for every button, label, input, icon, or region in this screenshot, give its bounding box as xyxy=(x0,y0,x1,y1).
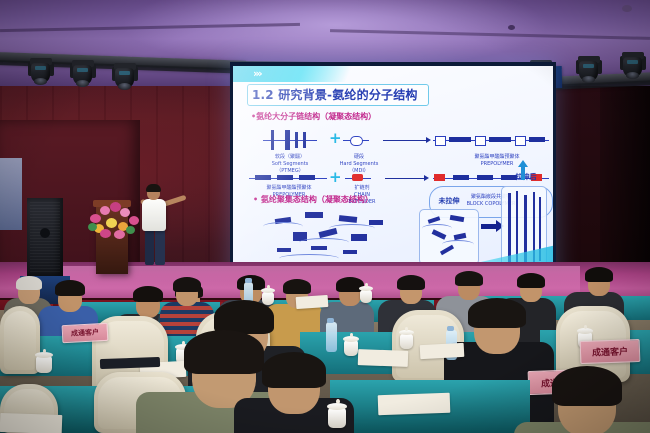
teacup xyxy=(360,290,372,303)
slide-chevron-icon: ››› xyxy=(253,67,261,80)
reaction-arrow-line xyxy=(385,178,425,179)
chem-block xyxy=(285,130,290,150)
presenter-hair xyxy=(146,184,161,192)
teacup xyxy=(344,340,358,356)
chem-block xyxy=(453,175,469,180)
agg-chain-curve xyxy=(299,238,349,247)
presenter-left-leg xyxy=(145,229,154,265)
agg-segment xyxy=(369,220,383,225)
table-tent-card: 成通客户 xyxy=(580,339,641,364)
stretch-up-arrow-head-icon xyxy=(518,160,528,167)
chem-block xyxy=(477,175,493,180)
slide-title: 1.2 研究背景-氨纶的分子结构 xyxy=(252,86,418,103)
teacup xyxy=(400,334,413,349)
unstretched-structure-box xyxy=(419,209,479,265)
agg-segment xyxy=(343,250,357,254)
water-bottle xyxy=(326,322,337,352)
agg-segment xyxy=(428,216,441,224)
agg-chain-curve xyxy=(442,240,474,249)
chem-block xyxy=(295,132,298,148)
chem-block-red xyxy=(352,174,363,181)
stretch-up-arrow xyxy=(521,166,525,180)
chem-label-prepolymer-cn: 聚氨酯甲酸酯预聚体 xyxy=(445,154,549,160)
chem-block xyxy=(299,175,315,180)
chem-label-prepolymer-en: PREPOLYMER xyxy=(445,161,549,167)
pa-speaker-driver-icon xyxy=(40,228,50,238)
chem-block xyxy=(449,137,471,142)
label-unstretched: 未拉伸 xyxy=(429,198,469,204)
label-stretched: 拉伸后 xyxy=(509,174,543,180)
chem-block xyxy=(350,136,363,146)
agg-chain-curve xyxy=(329,224,375,233)
reaction-arrow-head-icon xyxy=(426,137,431,143)
agg-segment xyxy=(351,234,367,241)
chem-label-hard-en: Hard Segments xyxy=(337,161,381,167)
agg-chain-curve xyxy=(263,222,303,231)
presenter-torso xyxy=(142,199,166,231)
tent-card-label: 成通客户 xyxy=(71,327,99,338)
projection-screen: ››› 1.2 研究背景-氨纶的分子结构 •氨纶大分子链结构（凝聚态结构） 软段… xyxy=(233,66,553,281)
agg-chain-curve xyxy=(422,224,452,233)
agg-segment xyxy=(277,248,291,252)
tent-card-label: 成通客户 xyxy=(592,344,628,358)
agg-segment xyxy=(339,215,358,223)
ceiling-fixture-icon xyxy=(622,5,632,12)
chem-block xyxy=(435,136,446,146)
document-paper xyxy=(358,349,409,367)
agg-segment xyxy=(305,212,323,218)
reaction-arrow-line xyxy=(383,140,427,141)
chem-label-chain-cn: 扩链剂 xyxy=(339,185,385,191)
chem-label-soft-en: Soft Segments xyxy=(257,161,323,167)
conference-photo-scene: 神®酸性染料可染氨纶研究进展 成通 ››› 1.2 研究背景-氨纶的分子结构 •… xyxy=(0,0,650,433)
slide-bullet-1: •氨纶大分子链结构（凝聚态结构） xyxy=(251,111,376,122)
chem-block xyxy=(255,175,271,180)
plus-icon: + xyxy=(329,132,342,144)
teacup xyxy=(36,356,52,373)
chem-block xyxy=(489,137,511,142)
presenter-right-leg xyxy=(155,229,165,265)
chem-block xyxy=(515,136,526,146)
side-display-panel xyxy=(0,158,22,230)
plus-icon: + xyxy=(329,171,342,183)
table-tent-card: 成通客户 xyxy=(62,323,109,343)
chem-label-soft-cn: 软段（聚醊） xyxy=(257,154,323,160)
chem-block xyxy=(271,130,274,150)
agg-segment xyxy=(450,215,465,222)
transition-arrow xyxy=(481,224,497,229)
teacup xyxy=(262,292,274,305)
reaction-arrow-head-icon xyxy=(424,175,429,181)
aggregate-structure-diagram xyxy=(259,204,394,266)
chem-block xyxy=(475,136,486,146)
document-paper xyxy=(420,343,465,359)
chem-block xyxy=(529,137,545,142)
chem-label-soft-code: （PTMEG） xyxy=(257,168,323,174)
document-paper xyxy=(0,413,62,433)
chem-label-polyether-cn: 聚氨酯甲酸酯预聚体 xyxy=(249,185,329,191)
smoke-detector-icon xyxy=(508,25,515,30)
notebook xyxy=(100,357,160,369)
flower-arrangement xyxy=(86,196,142,240)
presentation-slide: ››› 1.2 研究背景-氨纶的分子结构 •氨纶大分子链结构（凝聚态结构） 软段… xyxy=(233,66,553,281)
teacup xyxy=(328,408,346,428)
chem-label-hard-cn: 硬段 xyxy=(337,154,381,160)
agg-fiber xyxy=(508,193,511,263)
document-paper xyxy=(296,295,329,309)
banquet-chair xyxy=(0,306,40,374)
chem-block xyxy=(303,132,306,148)
chem-block xyxy=(277,175,293,180)
document-paper xyxy=(378,393,451,416)
chem-block-red xyxy=(434,174,445,181)
slide-ribbon-decoration xyxy=(233,66,352,82)
